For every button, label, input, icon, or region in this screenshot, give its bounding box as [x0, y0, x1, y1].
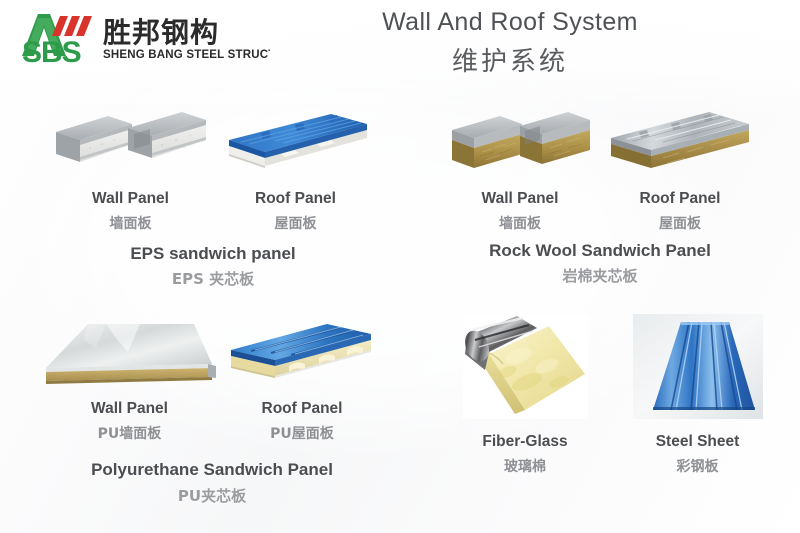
rockwool-wall-panel-photo [446, 104, 594, 180]
product-item-eps-wall[interactable]: Wall Panel 墙面板 [48, 104, 213, 233]
label-english: Roof Panel [222, 400, 382, 418]
slide-canvas: GARAGE 14'-6" 18'-0" 16'-0" SECTION A-2 … [0, 0, 800, 533]
label-chinese: 墙面板 [48, 213, 213, 233]
group-title-chinese: PU夹芯板 [42, 485, 382, 506]
group-title-chinese: EPS 夹芯板 [48, 268, 378, 289]
product-group-materials: Fiber-Glass 玻璃棉 [440, 314, 780, 494]
fiber-glass-roll-photo [463, 314, 588, 419]
product-group-eps: Wall Panel 墙面板 [48, 104, 378, 284]
label-english: Wall Panel [440, 190, 600, 208]
svg-text:胜邦钢构: 胜邦钢构 [103, 16, 219, 49]
label-chinese: PU屋面板 [222, 423, 382, 443]
product-item-rockwool-wall[interactable]: Wall Panel 墙面板 [440, 104, 600, 233]
pu-wall-panel-photo [44, 318, 216, 388]
eps-roof-panel-photo [221, 104, 371, 180]
product-item-steelsheet[interactable]: Steel Sheet 彩钢板 [615, 314, 780, 476]
label-chinese: 屋面板 [600, 213, 760, 233]
svg-text:SHENG BANG STEEL STRUCTURE: SHENG BANG STEEL STRUCTURE [103, 49, 270, 61]
label-english: Roof Panel [600, 190, 760, 208]
steel-sheet-photo [633, 314, 763, 419]
label-english: Wall Panel [42, 400, 217, 418]
product-item-pu-wall[interactable]: Wall Panel PU墙面板 [42, 318, 217, 443]
group-title-english: Rock Wool Sandwich Panel [440, 241, 760, 261]
label-chinese: 屋面板 [213, 213, 378, 233]
title-chinese: 维护系统 [300, 41, 720, 78]
label-english: Steel Sheet [615, 433, 780, 451]
label-chinese: 彩钢板 [615, 456, 780, 476]
slide-title: Wall And Roof System 维护系统 [300, 8, 720, 78]
group-title-english: Polyurethane Sandwich Panel [42, 460, 382, 480]
label-english: Fiber-Glass [440, 433, 610, 451]
title-english: Wall And Roof System [300, 8, 720, 37]
eps-wall-panel-photo [50, 104, 212, 180]
pu-roof-panel-photo [227, 318, 377, 388]
group-title-english: EPS sandwich panel [48, 244, 378, 264]
product-group-pu: Wall Panel PU墙面板 [42, 318, 382, 498]
label-english: Wall Panel [48, 190, 213, 208]
product-item-eps-roof[interactable]: Roof Panel 屋面板 [213, 104, 378, 233]
label-chinese: 玻璃棉 [440, 456, 610, 476]
product-item-fiberglass[interactable]: Fiber-Glass 玻璃棉 [440, 314, 610, 476]
label-chinese: PU墙面板 [42, 423, 217, 443]
product-item-pu-roof[interactable]: Roof Panel PU屋面板 [222, 318, 382, 443]
svg-text:SBS: SBS [22, 36, 81, 68]
svg-text:18'-0": 18'-0" [149, 304, 165, 312]
product-group-rockwool: Wall Panel 墙面板 [440, 104, 760, 284]
group-title-chinese: 岩棉夹芯板 [440, 265, 760, 286]
rockwool-roof-panel-photo [605, 104, 755, 180]
company-logo: SBS 胜邦钢构 SHENG BANG STEEL STRUCTURE [8, 6, 270, 68]
label-english: Roof Panel [213, 190, 378, 208]
label-chinese: 墙面板 [440, 213, 600, 233]
product-item-rockwool-roof[interactable]: Roof Panel 屋面板 [600, 104, 760, 233]
